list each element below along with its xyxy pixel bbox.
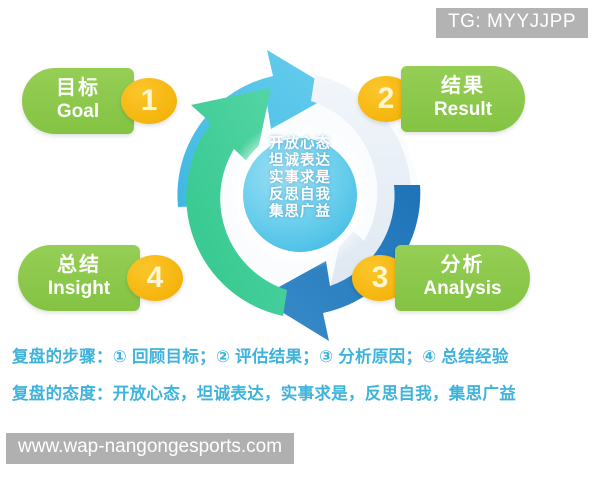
step-label-en: Insight: [32, 278, 126, 300]
cycle-diagram: 开放心态 坦诚表达 实事求是 反思自我 集思广益 目标 Goal 1 2 结果 …: [0, 0, 600, 345]
core-circle: [243, 138, 357, 252]
step-label-cn: 结果: [415, 75, 511, 98]
step-label-en: Result: [415, 99, 511, 121]
caption-steps: 复盘的步骤：① 回顾目标；② 评估结果；③ 分析原因；④ 总结经验: [0, 348, 600, 368]
step-pill-goal: 目标 Goal: [22, 68, 134, 134]
step-pill-insight: 总结 Insight: [18, 245, 140, 311]
step-label-result[interactable]: 2 结果 Result: [358, 66, 525, 132]
caption-block: 复盘的步骤：① 回顾目标；② 评估结果；③ 分析原因；④ 总结经验 复盘的态度：…: [0, 348, 600, 405]
step-label-cn: 总结: [32, 254, 126, 277]
step-label-cn: 分析: [409, 254, 516, 277]
step-number-1: 1: [121, 78, 177, 124]
step-label-en: Analysis: [409, 278, 516, 300]
step-label-insight[interactable]: 总结 Insight 4: [18, 245, 183, 311]
step-label-analysis[interactable]: 3 分析 Analysis: [352, 245, 530, 311]
step-pill-analysis: 分析 Analysis: [395, 245, 530, 311]
telegram-watermark: TG: MYYJJPP: [436, 8, 588, 38]
step-number-4: 4: [127, 255, 183, 301]
site-watermark: www.wap-nangongesports.com: [6, 433, 294, 464]
step-label-en: Goal: [36, 101, 120, 123]
caption-attitude: 复盘的态度：开放心态，坦诚表达，实事求是，反思自我，集思广益: [0, 385, 600, 405]
step-label-cn: 目标: [36, 77, 120, 100]
step-pill-result: 结果 Result: [401, 66, 525, 132]
step-label-goal[interactable]: 目标 Goal 1: [22, 68, 177, 134]
